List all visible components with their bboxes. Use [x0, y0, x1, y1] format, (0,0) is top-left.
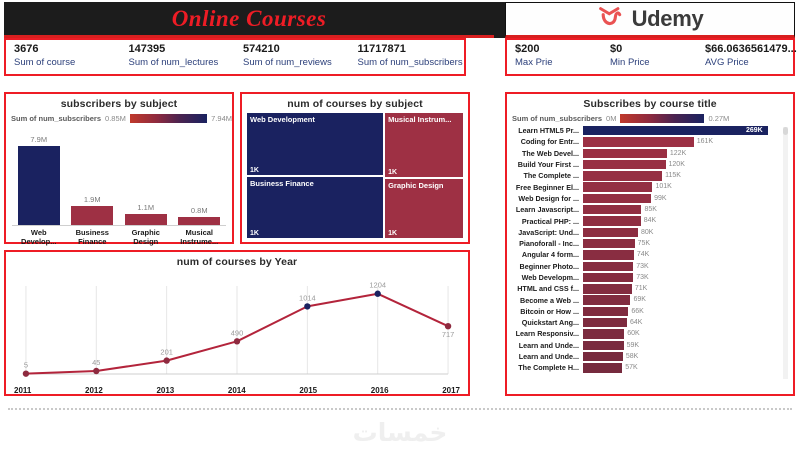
bar-category-label: HTML and CSS f...: [511, 284, 583, 293]
bar-category-label: Business Finance: [69, 228, 115, 246]
bar-column[interactable]: 1.9M: [70, 195, 114, 225]
bar-row[interactable]: Practical PHP: ...84K: [507, 215, 793, 226]
treemap-tile-value: 1K: [250, 230, 259, 237]
bar-row[interactable]: The Web Devel...122K: [507, 148, 793, 159]
bar-value-label: 64K: [630, 318, 642, 327]
bar-track: 115K: [583, 171, 793, 180]
bar-track: 73K: [583, 273, 793, 282]
bar-rect[interactable]: [583, 318, 627, 327]
bar-column[interactable]: 1.1M: [124, 203, 168, 225]
kpi-value: 3676: [14, 43, 121, 56]
bar-column[interactable]: 7.9M: [17, 135, 61, 225]
bar-rect[interactable]: [583, 149, 667, 158]
chart-courses-by-year[interactable]: num of courses by Year 54520149010141204…: [4, 250, 470, 396]
bar-rect[interactable]: [583, 262, 633, 271]
bar-track: 69K: [583, 295, 793, 304]
kpi-card-2: 574210Sum of num_reviews: [235, 40, 350, 69]
column-plot-area: 7.9M1.9M1.1M0.8M: [12, 129, 226, 225]
bar-rect[interactable]: [583, 341, 624, 350]
bar-rect[interactable]: [583, 295, 630, 304]
bar-value-label: 122K: [670, 149, 686, 158]
bar-category-label: Become a Web ...: [511, 296, 583, 305]
legend-min: 0M: [606, 114, 616, 123]
line-marker: [163, 357, 169, 363]
kpi-card-0: $200Max Prie: [507, 40, 602, 69]
bar-rect[interactable]: [18, 146, 60, 225]
kpi-strip-left: 3676Sum of course147395Sum of num_lectur…: [4, 38, 466, 76]
bar-category-label: Free Beginner El...: [511, 183, 583, 192]
bar-track: 66K: [583, 307, 793, 316]
bar-track: 64K: [583, 318, 793, 327]
kpi-label: AVG Price: [705, 56, 792, 69]
kpi-value: $66.0636561479...: [705, 43, 792, 56]
bar-row[interactable]: Learn and Unde...58K: [507, 351, 793, 362]
legend-label: Sum of num_subscribers: [11, 114, 101, 123]
kpi-value: 574210: [243, 43, 350, 56]
bar-rect[interactable]: [125, 214, 167, 225]
line-marker: [23, 370, 29, 376]
treemap-tile-label: Graphic Design: [388, 181, 443, 190]
bar-track: 73K: [583, 262, 793, 271]
divider: [8, 408, 792, 410]
bar-category-label: The Complete H...: [511, 363, 583, 372]
kpi-value: $200: [515, 43, 602, 56]
brand-logo: Udemy: [505, 2, 795, 38]
legend-gradient: [620, 114, 704, 123]
bar-row[interactable]: Angular 4 form...74K: [507, 249, 793, 260]
line-marker: [93, 368, 99, 374]
treemap-column-left: Web Development1KBusiness Finance1K: [247, 113, 383, 238]
bar-value-label: 1.9M: [84, 195, 101, 204]
bar-value-label: 80K: [641, 228, 653, 237]
udemy-logo-icon: [597, 6, 625, 32]
chart-legend: Sum of num_subscribers 0M 0.27M: [507, 110, 793, 123]
legend-max: 0.27M: [708, 114, 729, 123]
bar-value-label: 115K: [665, 171, 681, 180]
bar-row[interactable]: Learn Responsiv...60K: [507, 328, 793, 339]
page-title: Online Courses: [4, 2, 494, 35]
bar-category-label: The Complete ...: [511, 171, 583, 180]
bar-category-label: Pianoforall - Inc...: [511, 239, 583, 248]
bar-rect[interactable]: [583, 216, 641, 225]
bar-track: 161K: [583, 137, 793, 146]
bar-track: 74K: [583, 250, 793, 259]
treemap-tile[interactable]: Musical Instrum...1K: [385, 113, 463, 177]
bar-value-label: 58K: [626, 352, 638, 361]
bar-track: 85K: [583, 205, 793, 214]
bar-value-label: 7.9M: [30, 135, 47, 144]
bar-rect[interactable]: [583, 171, 662, 180]
bar-rect[interactable]: [583, 228, 638, 237]
legend-max: 7.94M: [211, 114, 232, 123]
bar-track: 59K: [583, 341, 793, 350]
line-value-label: 1204: [369, 281, 386, 290]
bar-track: 120K: [583, 160, 793, 169]
bar-category-label: Web Developm...: [511, 273, 583, 282]
watermark: خمسات: [0, 418, 800, 447]
chart-title: num of courses by subject: [242, 94, 468, 110]
bar-track: 84K: [583, 216, 793, 225]
bar-category-label: Coding for Entr...: [511, 137, 583, 146]
x-axis-labels: Web Develop...Business FinanceGraphic De…: [12, 228, 226, 246]
kpi-label: Min Price: [610, 56, 697, 69]
bar-category-label: Learn Javascript...: [511, 205, 583, 214]
bar-rect[interactable]: [583, 273, 633, 282]
bar-rect[interactable]: [583, 307, 628, 316]
bar-row[interactable]: Learn Javascript...85K: [507, 204, 793, 215]
kpi-label: Sum of num_subscribers: [358, 56, 465, 69]
line-plot-area: 54520149010141204717: [12, 270, 462, 388]
kpi-card-2: $66.0636561479...AVG Price: [697, 40, 792, 69]
treemap-tile-value: 1K: [388, 230, 397, 237]
bar-value-label: 0.8M: [191, 206, 208, 215]
bar-row[interactable]: The Complete H...57K: [507, 362, 793, 373]
treemap-tile-label: Musical Instrum...: [388, 115, 451, 124]
x-axis-line: [12, 225, 226, 226]
bar-track: 269K: [583, 126, 793, 135]
bar-category-label: Quickstart Ang...: [511, 318, 583, 327]
bar-category-label: Learn Responsiv...: [511, 329, 583, 338]
treemap-tile-value: 1K: [250, 167, 259, 174]
bar-value-label: 69K: [633, 295, 645, 304]
bar-row[interactable]: Coding for Entr...161K: [507, 136, 793, 147]
bar-category-label: Web Design for ...: [511, 194, 583, 203]
bar-value-label: 73K: [636, 262, 648, 271]
bar-category-label: Learn and Unde...: [511, 352, 583, 361]
kpi-label: Sum of course: [14, 56, 121, 69]
chart-title: Subscribes by course title: [507, 94, 793, 110]
legend-label: Sum of num_subscribers: [512, 114, 602, 123]
bar-rect[interactable]: [178, 217, 220, 225]
bar-value-label: 66K: [631, 307, 643, 316]
kpi-label: Sum of num_lectures: [129, 56, 236, 69]
bar-rect[interactable]: [583, 126, 768, 135]
bar-row[interactable]: Bitcoin or How ...66K: [507, 306, 793, 317]
chart-legend: Sum of num_subscribers 0.85M 7.94M: [6, 110, 232, 123]
bar-rect[interactable]: [583, 182, 652, 191]
bar-value-label: 57K: [625, 363, 637, 372]
treemap-tile-value: 1K: [388, 169, 397, 176]
bar-row[interactable]: Web Design for ...99K: [507, 193, 793, 204]
bar-row[interactable]: Build Your First ...120K: [507, 159, 793, 170]
bar-rect[interactable]: [583, 352, 623, 361]
bar-value-label: 161K: [697, 137, 713, 146]
bar-category-label: Graphic Design: [123, 228, 169, 246]
line-value-label: 201: [160, 348, 172, 357]
treemap-tile[interactable]: Business Finance1K: [247, 177, 383, 239]
bar-value-label: 74K: [637, 250, 649, 259]
treemap-tile-label: Business Finance: [250, 179, 314, 188]
bar-category-label: Web Develop...: [16, 228, 62, 246]
bar-value-label: 84K: [644, 216, 656, 225]
bar-track: 60K: [583, 329, 793, 338]
bar-rect[interactable]: [583, 284, 632, 293]
header-bar-gap: [494, 2, 505, 38]
bar-rect[interactable]: [583, 137, 694, 146]
bar-row[interactable]: Learn HTML5 Pr...269K: [507, 125, 793, 136]
bar-rect[interactable]: [71, 206, 113, 225]
legend-min: 0.85M: [105, 114, 126, 123]
bar-row[interactable]: Quickstart Ang...64K: [507, 317, 793, 328]
treemap-column-right: Musical Instrum...1KGraphic Design1K: [385, 113, 463, 238]
bar-rect[interactable]: [583, 194, 651, 203]
bar-rect[interactable]: [583, 239, 635, 248]
bar-track: 80K: [583, 228, 793, 237]
bar-rect[interactable]: [583, 160, 666, 169]
bar-category-label: Learn HTML5 Pr...: [511, 126, 583, 135]
bar-column[interactable]: 0.8M: [177, 206, 221, 225]
bar-category-label: The Web Devel...: [511, 149, 583, 158]
bar-category-label: JavaScript: Und...: [511, 228, 583, 237]
bar-row[interactable]: The Complete ...115K: [507, 170, 793, 181]
bar-track: 75K: [583, 239, 793, 248]
bar-value-label: 60K: [627, 329, 639, 338]
bar-rect[interactable]: [583, 205, 641, 214]
bar-category-label: Bitcoin or How ...: [511, 307, 583, 316]
kpi-strip-right: $200Max Prie$0Min Price$66.0636561479...…: [505, 38, 795, 76]
brand-name: Udemy: [632, 6, 704, 32]
dashboard-page: Online Courses Udemy 3676Sum of course14…: [0, 0, 800, 460]
treemap-tile-label: Web Development: [250, 115, 315, 124]
kpi-value: 11717871: [358, 43, 465, 56]
line-marker: [304, 303, 310, 309]
line-value-label: 490: [231, 328, 243, 337]
bar-value-label: 1.1M: [137, 203, 154, 212]
bar-track: 122K: [583, 149, 793, 158]
bar-value-label: 101K: [655, 182, 671, 191]
line-marker: [234, 338, 240, 344]
bar-track: 99K: [583, 194, 793, 203]
bar-value-label: 59K: [627, 341, 639, 350]
kpi-card-0: 3676Sum of course: [6, 40, 121, 69]
treemap-tile[interactable]: Web Development1K: [247, 113, 383, 175]
bar-value-label: 75K: [638, 239, 650, 248]
bar-category-label: Build Your First ...: [511, 160, 583, 169]
line-marker: [375, 291, 381, 297]
bar-category-label: Learn and Unde...: [511, 341, 583, 350]
bar-value-label: 71K: [635, 284, 647, 293]
bar-category-label: Practical PHP: ...: [511, 217, 583, 226]
line-value-label: 45: [92, 358, 100, 367]
chart-title: subscribers by subject: [6, 94, 232, 110]
chart-subscribers-by-course-title[interactable]: Subscribes by course title Sum of num_su…: [505, 92, 795, 396]
legend-gradient: [130, 114, 207, 123]
chart-subscribers-by-subject[interactable]: subscribers by subject Sum of num_subscr…: [4, 92, 234, 244]
header-bar: Online Courses: [4, 2, 494, 38]
bar-row[interactable]: Pianoforall - Inc...75K: [507, 238, 793, 249]
bar-row[interactable]: Free Beginner El...101K: [507, 181, 793, 192]
bar-value-label: 73K: [636, 273, 648, 282]
line-value-label: 717: [442, 330, 454, 339]
treemap-area: Web Development1KBusiness Finance1KMusic…: [247, 113, 463, 238]
kpi-card-3: 11717871Sum of num_subscribers: [350, 40, 465, 69]
bar-category-label: Beginner Photo...: [511, 262, 583, 271]
line-value-label: 5: [24, 361, 28, 370]
bar-row[interactable]: Become a Web ...69K: [507, 294, 793, 305]
treemap-tile[interactable]: Graphic Design1K: [385, 179, 463, 238]
line-value-label: 1014: [299, 293, 316, 302]
bar-row[interactable]: Learn and Unde...59K: [507, 340, 793, 351]
kpi-card-1: $0Min Price: [602, 40, 697, 69]
bar-row[interactable]: Web Developm...73K: [507, 272, 793, 283]
kpi-value: 147395: [129, 43, 236, 56]
bar-row[interactable]: HTML and CSS f...71K: [507, 283, 793, 294]
vertical-scrollbar[interactable]: [783, 127, 788, 379]
chart-title: num of courses by Year: [6, 252, 468, 268]
bar-row[interactable]: JavaScript: Und...80K: [507, 227, 793, 238]
bar-row[interactable]: Beginner Photo...73K: [507, 261, 793, 272]
bar-track: 58K: [583, 352, 793, 361]
chart-courses-by-subject[interactable]: num of courses by subject Web Developmen…: [240, 92, 470, 244]
bar-category-label: Angular 4 form...: [511, 250, 583, 259]
bar-rect[interactable]: [583, 329, 624, 338]
bar-track: 101K: [583, 182, 793, 191]
line-marker: [445, 323, 451, 329]
bar-rect[interactable]: [583, 250, 634, 259]
bar-track: 57K: [583, 363, 793, 372]
kpi-value: $0: [610, 43, 697, 56]
bar-rect[interactable]: [583, 363, 622, 372]
kpi-label: Sum of num_reviews: [243, 56, 350, 69]
vertical-scrollbar-thumb[interactable]: [783, 127, 788, 135]
bar-track: 71K: [583, 284, 793, 293]
bar-category-label: Musical Instrume...: [176, 228, 222, 246]
bar-value-label: 120K: [669, 160, 685, 169]
bar-list-scroll-area[interactable]: Learn HTML5 Pr...269KCoding for Entr...1…: [507, 125, 793, 383]
bar-value-label: 99K: [654, 194, 666, 203]
kpi-card-1: 147395Sum of num_lectures: [121, 40, 236, 69]
bar-value-label: 269K: [746, 126, 763, 135]
bar-value-label: 85K: [644, 205, 656, 214]
kpi-label: Max Prie: [515, 56, 602, 69]
